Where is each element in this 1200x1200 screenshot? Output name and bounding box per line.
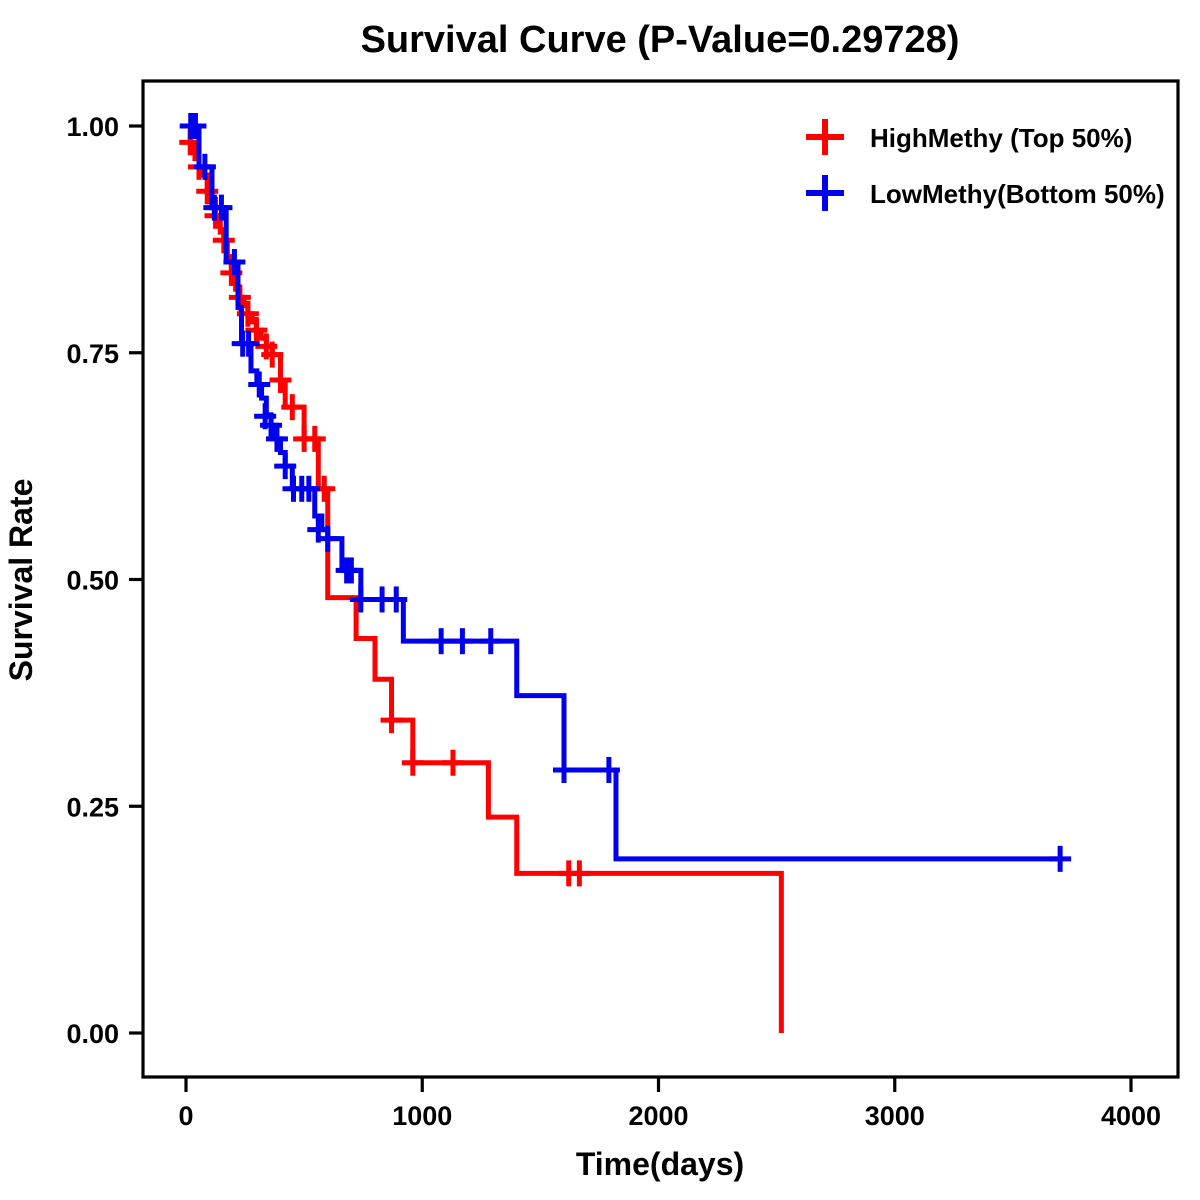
x-tick-label: 2000 bbox=[628, 1101, 688, 1131]
x-tick-label: 0 bbox=[178, 1101, 193, 1131]
survival-curve-page: Survival Curve (P-Value=0.29728) Surviva… bbox=[0, 0, 1200, 1200]
x-tick-label: 1000 bbox=[392, 1101, 452, 1131]
y-tick-label: 0.50 bbox=[66, 566, 119, 596]
y-axis-title: Survival Rate bbox=[3, 479, 39, 682]
x-tick-label: 4000 bbox=[1101, 1101, 1161, 1131]
y-tick-label: 0.00 bbox=[66, 1019, 119, 1049]
y-tick-label: 1.00 bbox=[66, 112, 119, 142]
x-tick-label: 3000 bbox=[865, 1101, 925, 1131]
legend-label: LowMethy(Bottom 50%) bbox=[870, 179, 1165, 209]
y-tick-label: 0.75 bbox=[66, 339, 119, 369]
y-tick-label: 0.25 bbox=[66, 792, 119, 822]
survival-curve-chart: Survival Curve (P-Value=0.29728) Surviva… bbox=[0, 0, 1200, 1200]
x-axis-title: Time(days) bbox=[576, 1146, 744, 1182]
legend-label: HighMethy (Top 50%) bbox=[870, 123, 1132, 153]
chart-title: Survival Curve (P-Value=0.29728) bbox=[361, 19, 960, 61]
